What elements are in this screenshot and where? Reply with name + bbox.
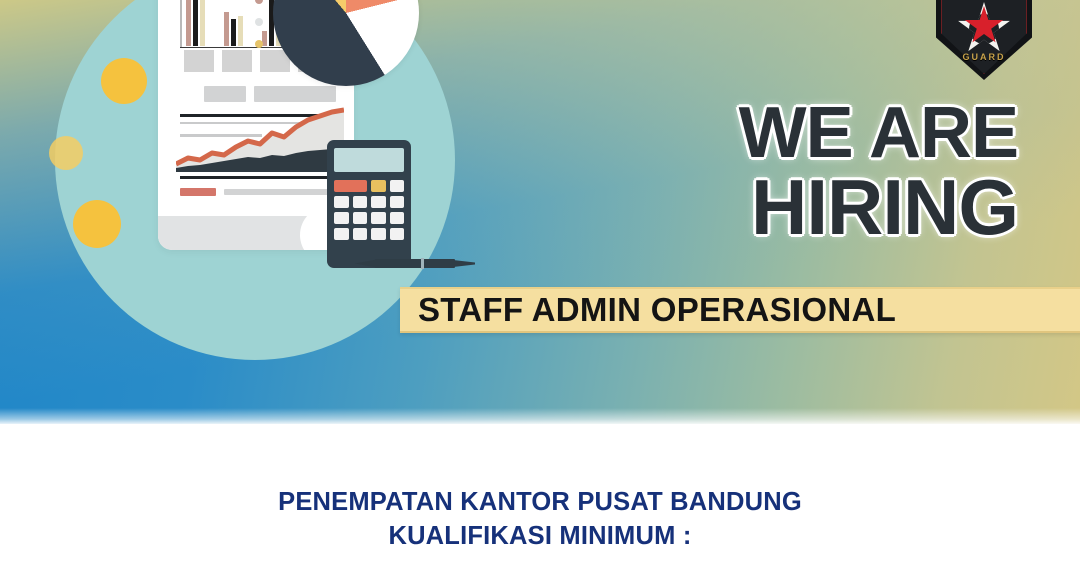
bar-rose [224, 12, 229, 46]
headline-line-1: WE ARE [739, 98, 1018, 169]
legend-dot-yellow [255, 40, 263, 48]
calculator-keypad [334, 180, 404, 240]
pen-end [453, 260, 475, 267]
footer-section: PENEMPATAN KANTOR PUSAT BANDUNG KUALIFIK… [0, 424, 1080, 567]
calculator-key [353, 196, 368, 208]
line-area-chart-svg [176, 106, 344, 172]
guard-shield-logo: GUARD [936, 0, 1032, 80]
paper-text-block [204, 86, 246, 102]
paper-text-block [224, 189, 336, 195]
calculator-key [353, 228, 368, 240]
position-title-banner: STAFF ADMIN OPERASIONAL [400, 287, 1080, 333]
paper-rule [180, 176, 336, 179]
paper-color-swatch [180, 188, 216, 196]
gold-coin [101, 58, 147, 104]
headline: WE ARE HIRING [739, 98, 1018, 245]
calculator-key [390, 196, 405, 208]
calculator-key [371, 196, 386, 208]
bar-group [224, 0, 254, 46]
calculator-screen [334, 148, 404, 172]
bar-group-label [184, 50, 214, 72]
pen-icon [355, 257, 473, 270]
bar-chart-y-axis [180, 0, 182, 48]
calculator-key [353, 212, 368, 224]
logo-wordmark: GUARD [936, 52, 1032, 62]
calculator-key [371, 228, 386, 240]
calculator-key [390, 212, 405, 224]
legend-dot-gray [255, 18, 263, 26]
calculator-key [334, 180, 367, 192]
bar-group [186, 0, 216, 46]
calculator-key [334, 228, 349, 240]
placement-line: PENEMPATAN KANTOR PUSAT BANDUNG [278, 486, 802, 520]
gold-coin [73, 200, 121, 248]
bar-cream [238, 16, 243, 46]
calculator-icon [327, 140, 411, 268]
paper-text-block [254, 86, 336, 102]
pen-body [375, 259, 455, 268]
bar-black [193, 0, 198, 46]
gold-coin [49, 136, 83, 170]
calculator-key [371, 180, 386, 192]
headline-line-2: HIRING [739, 169, 1018, 245]
calculator-key [390, 228, 405, 240]
position-title-text: STAFF ADMIN OPERASIONAL [400, 291, 896, 329]
calculator-key [334, 196, 349, 208]
pen-ring [421, 258, 424, 269]
calculator-key [390, 180, 405, 192]
bar-rose [186, 0, 191, 46]
hero-section: GUARD WE ARE HIRING STAFF ADMIN OPERASIO… [0, 0, 1080, 424]
calculator-key [371, 212, 386, 224]
bar-cream [200, 0, 205, 46]
qualification-heading: KUALIFIKASI MINIMUM : [388, 520, 691, 554]
line-area-chart [176, 106, 344, 172]
bar-black [231, 19, 236, 46]
calculator-key [334, 212, 349, 224]
bar-group-label [222, 50, 252, 72]
job-vacancy-poster: GUARD WE ARE HIRING STAFF ADMIN OPERASIO… [0, 0, 1080, 567]
hero-bottom-fade [0, 408, 1080, 424]
